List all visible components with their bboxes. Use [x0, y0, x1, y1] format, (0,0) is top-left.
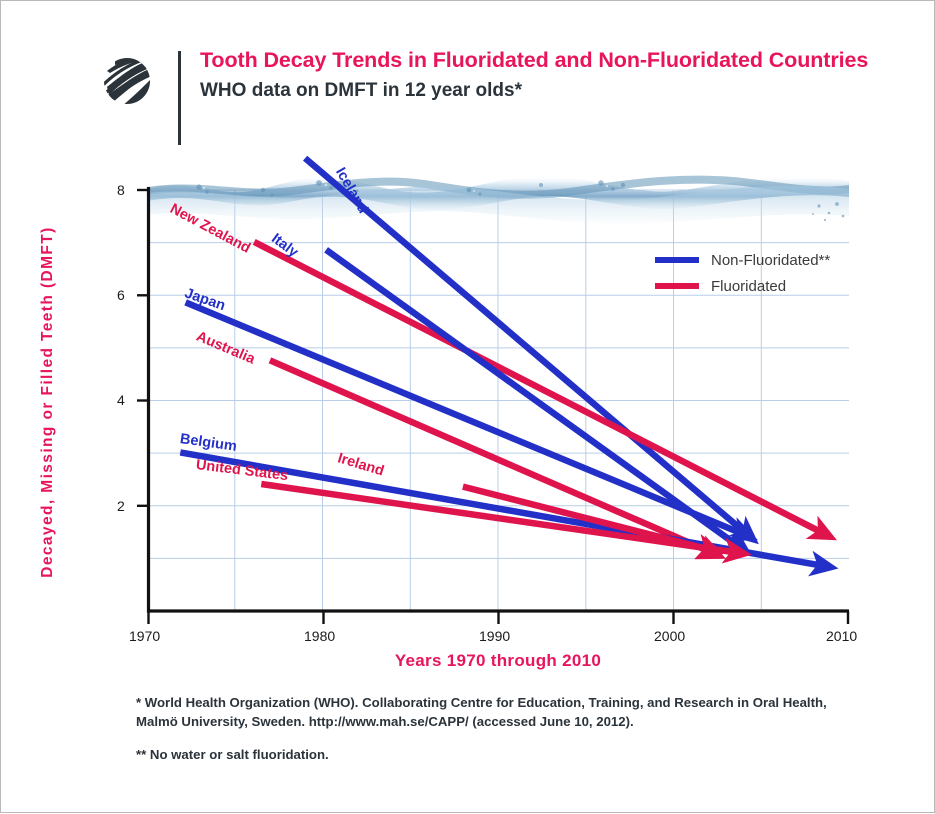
footnote-source: * World Health Organization (WHO). Colla…: [136, 693, 866, 731]
footnote-definition: ** No water or salt fluoridation.: [136, 745, 866, 764]
y-tick-label-2: 2: [117, 498, 125, 514]
legend-item-fluoridated[interactable]: Fluoridated: [655, 273, 865, 299]
x-tick-label-1980: 1980: [304, 628, 335, 644]
x-tick-label-1970: 1970: [129, 628, 160, 644]
y-tick-label-6: 6: [117, 287, 125, 303]
x-axis-title: Years 1970 through 2010: [147, 651, 849, 671]
legend-swatch-fluoridated: [655, 283, 699, 289]
infographic-page: Tooth Decay Trends in Fluoridated and No…: [0, 0, 935, 813]
x-tick-label-1990: 1990: [479, 628, 510, 644]
legend-label-fluoridated: Fluoridated: [711, 278, 786, 295]
legend-swatch-non-fluoridated: [655, 257, 699, 263]
legend: Non-Fluoridated** Fluoridated: [655, 247, 865, 299]
x-tick-label-2010: 2010: [826, 628, 857, 644]
series-line-australia: [270, 360, 712, 552]
y-axis-title: Decayed, Missing or Filled Teeth (DMFT): [39, 202, 57, 602]
x-tick-label-2000: 2000: [654, 628, 685, 644]
legend-label-non-fluoridated: Non-Fluoridated**: [711, 252, 830, 269]
y-tick-label-4: 4: [117, 392, 125, 408]
y-tick-label-8: 8: [117, 182, 125, 198]
legend-item-non-fluoridated[interactable]: Non-Fluoridated**: [655, 247, 865, 273]
footnotes: * World Health Organization (WHO). Colla…: [136, 693, 866, 778]
